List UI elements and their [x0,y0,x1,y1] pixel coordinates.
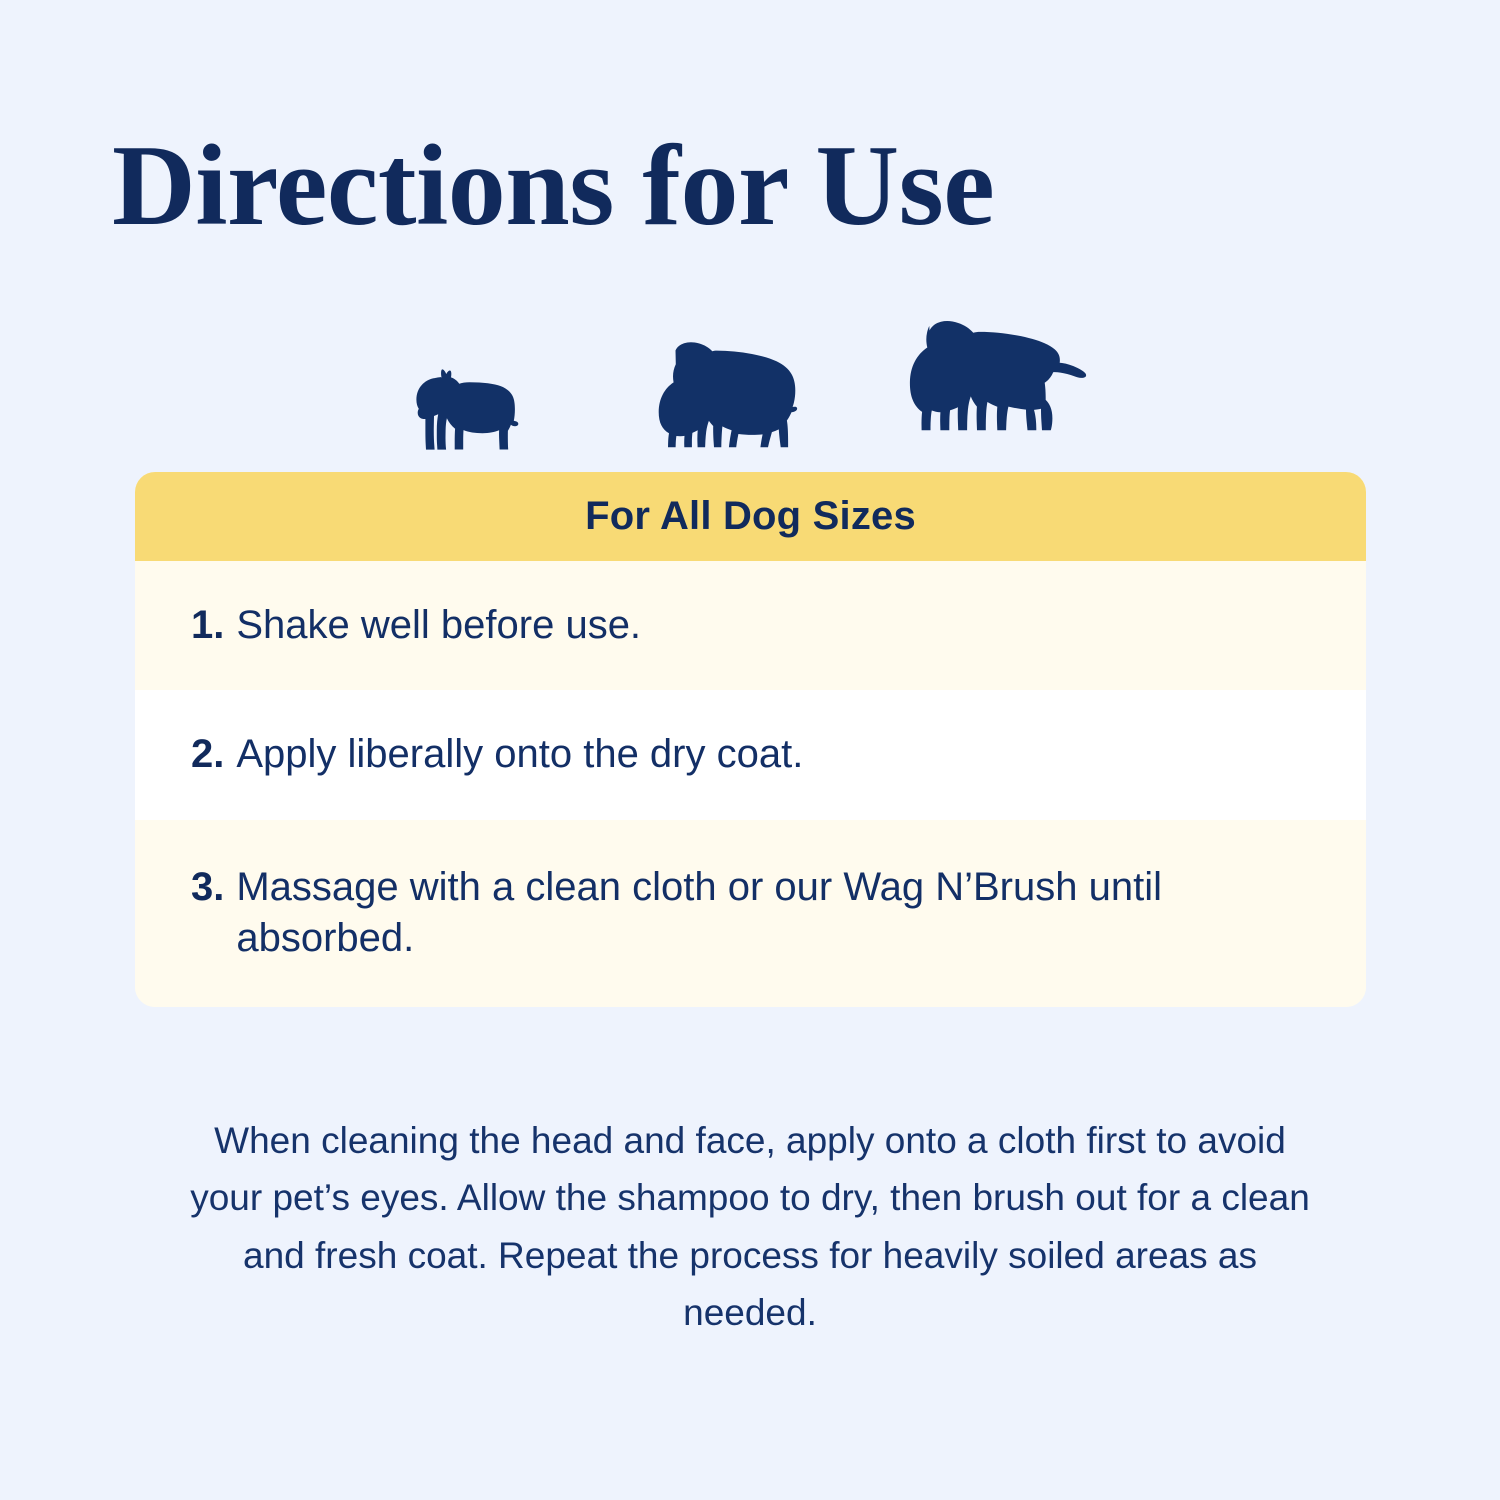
card-header: For All Dog Sizes [135,472,1366,561]
step-number: 2. [191,729,224,780]
step-number: 1. [191,600,224,651]
step-number: 3. [191,862,224,913]
step-text: Shake well before use. [236,600,641,651]
instruction-step-1: 1. Shake well before use. [135,561,1366,690]
card-header-title: For All Dog Sizes [585,494,916,539]
small-dog-silhouette [415,358,525,450]
page-title: Directions for Use [112,128,1392,244]
instruction-step-2: 2. Apply liberally onto the dry coat. [135,690,1366,820]
step-text: Apply liberally onto the dry coat. [236,729,803,780]
dog-size-illustration-row [0,300,1500,450]
step-text: Massage with a clean cloth or our Wag N’… [236,862,1296,964]
directions-for-use-panel: Directions for Use For All Dog Sizes 1. … [0,0,1500,1500]
large-dog-silhouette [895,320,1085,450]
medium-dog-silhouette [645,338,800,450]
instruction-step-3: 3. Massage with a clean cloth or our Wag… [135,820,1366,1007]
instructions-card: For All Dog Sizes 1. Shake well before u… [135,472,1366,1007]
usage-note: When cleaning the head and face, apply o… [190,1112,1310,1341]
